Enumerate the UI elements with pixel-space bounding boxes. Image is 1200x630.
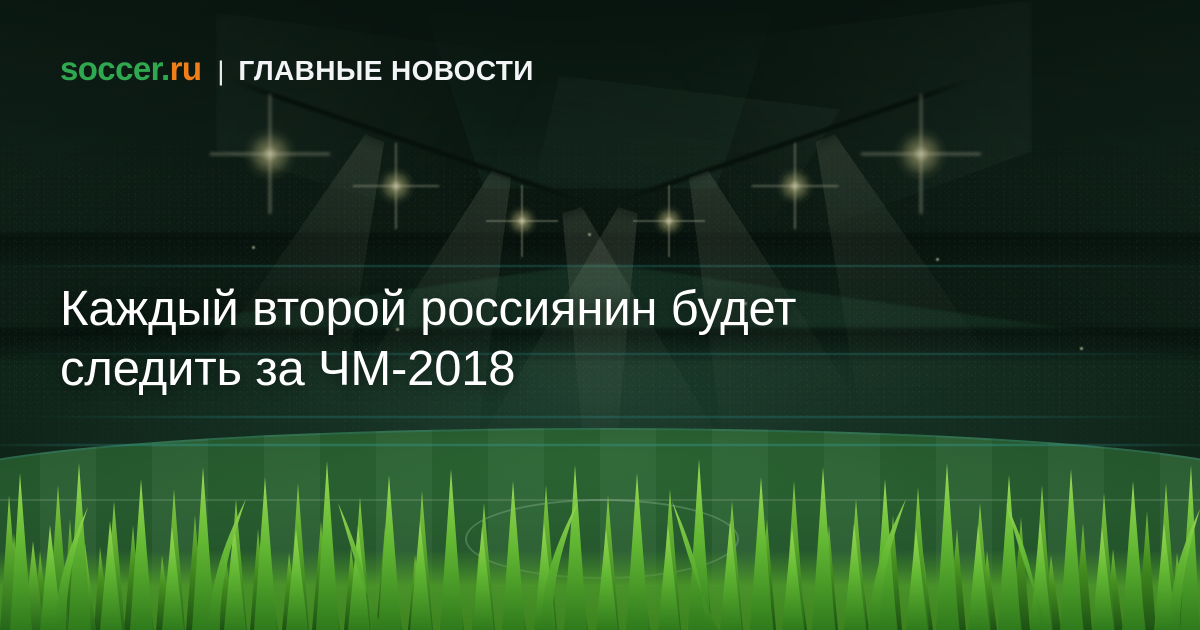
social-share-card: soccer.ru | ГЛАВНЫЕ НОВОСТИ Каждый второ… bbox=[0, 0, 1200, 630]
page-title: Каждый второй россиянин будет следить за… bbox=[60, 279, 1020, 399]
logo-word-soccer: soccer bbox=[60, 50, 161, 87]
header-separator: | bbox=[217, 58, 224, 85]
card-header: soccer.ru | ГЛАВНЫЕ НОВОСТИ bbox=[60, 52, 534, 85]
logo-dot: . bbox=[161, 50, 170, 87]
foreground-grass bbox=[0, 455, 1200, 630]
site-logo[interactable]: soccer.ru bbox=[60, 52, 201, 85]
logo-word-ru: ru bbox=[170, 50, 202, 87]
headline-line-1: Каждый второй россиянин будет bbox=[60, 279, 1020, 339]
header-kicker: ГЛАВНЫЕ НОВОСТИ bbox=[238, 57, 533, 85]
headline-line-2: следить за ЧМ-2018 bbox=[60, 339, 1020, 399]
